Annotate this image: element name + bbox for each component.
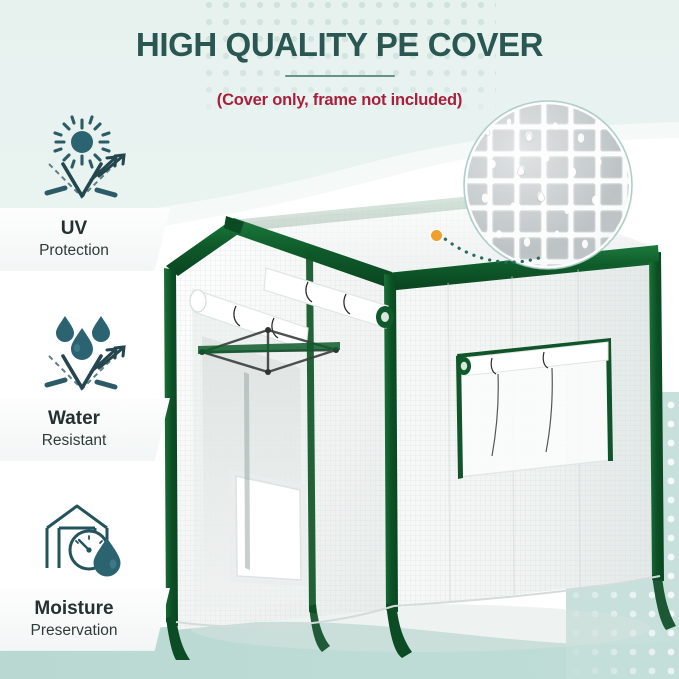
side-window [456,338,613,479]
sun-disc [71,131,93,153]
droplets [56,316,110,360]
outgoing-arrows [91,347,124,372]
feature-uv-protection: UV Protection [0,112,200,302]
greenhouse-humidity-gauge-icon [22,492,142,588]
feature-list: UV Protection [0,112,200,679]
uv-sun-reflect-icon [22,112,142,208]
header: HIGH QUALITY PE COVER (Cover only, frame… [0,0,679,110]
title-underline [285,75,395,77]
feature-label-water: Water Resistant [0,398,170,461]
droplet-highlights [74,344,80,352]
feature-moisture-preservation: Moisture Preservation [0,492,200,679]
feature-water-resistant: Water Resistant [0,302,200,492]
feature-label-moisture: Moisture Preservation [0,588,170,651]
outgoing-arrows [91,155,124,180]
feature-label-line2: Resistant [0,431,170,451]
feature-label-line1: Moisture [0,597,170,621]
page-title: HIGH QUALITY PE COVER [0,0,679,63]
infographic-canvas: HIGH QUALITY PE COVER (Cover only, frame… [0,0,679,679]
feature-label-line2: Preservation [0,621,170,641]
side-trim-hang [652,575,676,630]
magnifier-origin-dot [431,230,442,241]
feature-label-line2: Protection [0,241,170,261]
magnifier-connector-line [425,220,545,280]
feature-label-line1: UV [0,217,170,241]
water-droplet-reflect-icon [22,302,142,398]
feature-label-line1: Water [0,407,170,431]
feature-label-uv: UV Protection [0,208,170,271]
